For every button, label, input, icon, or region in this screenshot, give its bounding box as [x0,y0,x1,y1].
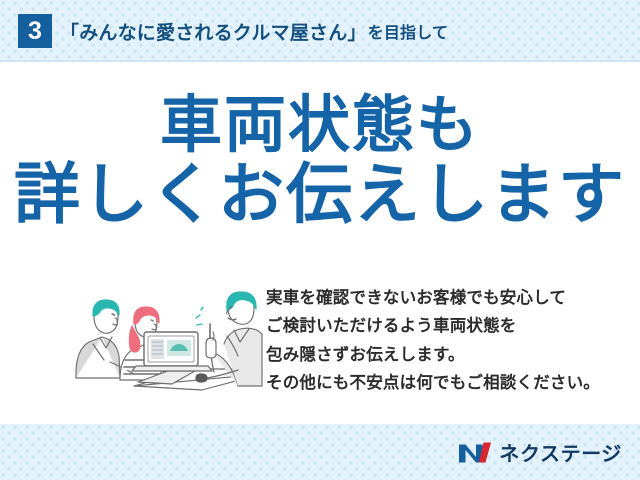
body-copy-line-2: ご検討いただけるよう車両状態を [266,312,626,340]
headline-line-2: 詳しくお伝えします [0,161,640,228]
consultation-illustration [62,274,264,396]
header-title-lead: 「みんなに愛されるクルマ屋さん」 [60,18,367,45]
body-copy-line-4: その他にも不安点は何でもご相談ください。 [266,369,626,397]
brand-name: ネクステージ [499,438,622,467]
header-band: 3 「みんなに愛されるクルマ屋さん」を目指して [0,0,640,62]
step-number-badge: 3 [18,14,52,48]
brand-lockup: ネクステージ [458,438,622,467]
headline: 車両状態も 詳しくお伝えします [0,94,640,229]
content-stage: 車両状態も 詳しくお伝えします [0,62,640,424]
body-copy: 実車を確認できないお客様でも安心して ご検討いただけるよう車両状態を 包み隠さず… [266,284,626,398]
consultation-illustration-svg [62,274,264,396]
body-copy-line-3: 包み隠さずお伝えします。 [266,341,626,369]
header-title: 「みんなに愛されるクルマ屋さん」を目指して [60,14,448,48]
headline-line-1: 車両状態も [0,94,640,157]
footer-band: ネクステージ [0,424,640,480]
body-copy-line-1: 実車を確認できないお客様でも安心して [266,284,626,312]
header-title-tail: を目指して [368,19,449,43]
nextage-n-logo-icon [458,440,492,464]
promo-banner: 3 「みんなに愛されるクルマ屋さん」を目指して 車両状態も 詳しくお伝えします [0,0,640,480]
